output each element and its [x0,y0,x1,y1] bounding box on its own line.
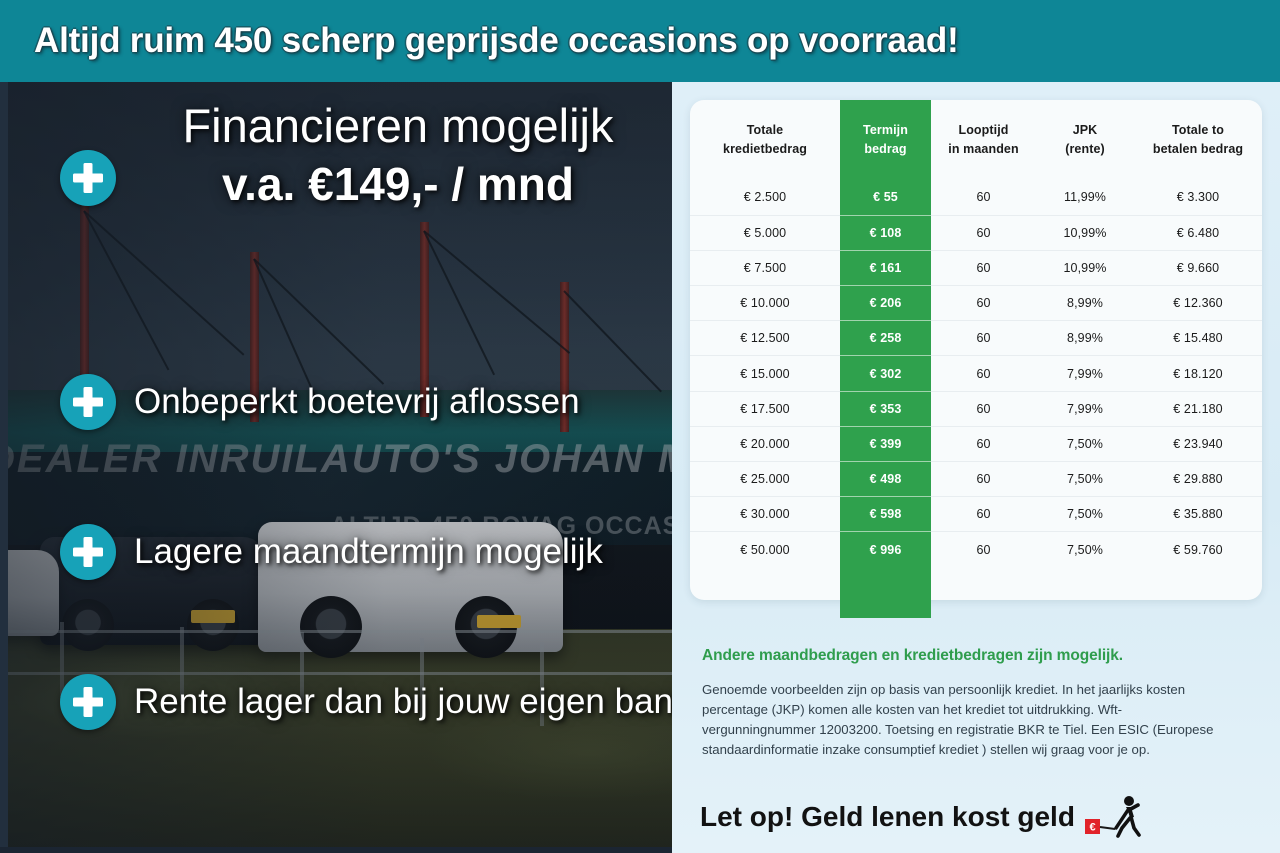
cell-termijn: € 161 [840,250,931,285]
cell-jkp: 10,99% [1036,215,1134,250]
finance-info-panel: Totale kredietbedrag Termijn bedrag Loop… [672,82,1280,853]
cell-termijn: € 996 [840,532,931,567]
table-row: € 50.000 € 996 60 7,50% € 59.760 [690,532,1262,567]
cell-termijn: € 258 [840,321,931,356]
plus-icon [60,674,116,730]
table-row: € 30.000 € 598 60 7,50% € 35.880 [690,497,1262,532]
cell-looptijd: 60 [931,215,1036,250]
cell-totaal: € 12.360 [1134,286,1262,321]
cell-krediet: € 50.000 [690,532,840,567]
cell-termijn: € 498 [840,462,931,497]
cell-termijn: € 399 [840,426,931,461]
cell-krediet: € 2.500 [690,180,840,215]
promo-column: Financieren mogelijk v.a. €149,- / mnd O… [0,82,675,853]
cell-looptijd: 60 [931,180,1036,215]
cell-krediet: € 10.000 [690,286,840,321]
disclaimer-block: Andere maandbedragen en kredietbedragen … [702,647,1222,760]
table-row: € 10.000 € 206 60 8,99% € 12.360 [690,286,1262,321]
column-header-looptijd: Looptijd in maanden [931,100,1036,180]
table-row: € 17.500 € 353 60 7,99% € 21.180 [690,391,1262,426]
promo-bullet-3: Rente lager dan bij jouw eigen bank [60,674,691,730]
cell-termijn: € 108 [840,215,931,250]
svg-text:€: € [1089,822,1095,834]
table-row: € 20.000 € 399 60 7,50% € 23.940 [690,426,1262,461]
table-row: € 25.000 € 498 60 7,50% € 29.880 [690,462,1262,497]
promo-headline-line1: Financieren mogelijk [126,100,670,153]
cell-totaal: € 18.120 [1134,356,1262,391]
finance-table-body: € 2.500 € 55 60 11,99% € 3.300 € 5.000 €… [690,180,1262,567]
finance-table-head: Totale kredietbedrag Termijn bedrag Loop… [690,100,1262,180]
cell-totaal: € 3.300 [1134,180,1262,215]
afm-money-warning-icon: € [1085,795,1141,839]
frame-edge-left [0,82,8,853]
table-row: € 2.500 € 55 60 11,99% € 3.300 [690,180,1262,215]
cell-krediet: € 20.000 [690,426,840,461]
cell-jkp: 8,99% [1036,286,1134,321]
credit-warning-text: Let op! Geld lenen kost geld [700,801,1075,833]
advertisement-banner: Altijd ruim 450 scherp geprijsde occasio… [0,0,1280,853]
table-row: € 7.500 € 161 60 10,99% € 9.660 [690,250,1262,285]
cell-termijn: € 55 [840,180,931,215]
cell-looptijd: 60 [931,250,1036,285]
cell-krediet: € 30.000 [690,497,840,532]
top-banner: Altijd ruim 450 scherp geprijsde occasio… [0,0,1280,82]
cell-jkp: 7,99% [1036,356,1134,391]
cell-looptijd: 60 [931,391,1036,426]
promo-bullet-2: Lagere maandtermijn mogelijk [60,524,603,580]
headline-block: Financieren mogelijk v.a. €149,- / mnd [60,100,670,212]
disclaimer-heading: Andere maandbedragen en kredietbedragen … [702,647,1222,665]
table-row: € 15.000 € 302 60 7,99% € 18.120 [690,356,1262,391]
cell-looptijd: 60 [931,286,1036,321]
cell-jkp: 7,99% [1036,391,1134,426]
cell-jkp: 8,99% [1036,321,1134,356]
table-header-row: Totale kredietbedrag Termijn bedrag Loop… [690,100,1262,180]
promo-headline-line2: v.a. €149,- / mnd [126,157,670,212]
cell-krediet: € 7.500 [690,250,840,285]
column-header-krediet: Totale kredietbedrag [690,100,840,180]
cell-looptijd: 60 [931,462,1036,497]
cell-krediet: € 15.000 [690,356,840,391]
plus-icon [60,524,116,580]
cell-jkp: 7,50% [1036,426,1134,461]
cell-looptijd: 60 [931,356,1036,391]
promo-bullet-label: Onbeperkt boetevrij aflossen [134,382,580,422]
column-header-totaal: Totale to betalen bedrag [1134,100,1262,180]
cell-looptijd: 60 [931,321,1036,356]
cell-krediet: € 12.500 [690,321,840,356]
cell-jkp: 7,50% [1036,532,1134,567]
column-header-jkp: JPK (rente) [1036,100,1134,180]
cell-krediet: € 17.500 [690,391,840,426]
cell-looptijd: 60 [931,497,1036,532]
cell-termijn: € 206 [840,286,931,321]
cell-looptijd: 60 [931,426,1036,461]
promo-bullet-label: Lagere maandtermijn mogelijk [134,532,603,572]
cell-krediet: € 5.000 [690,215,840,250]
plus-icon [60,374,116,430]
cell-jkp: 7,50% [1036,497,1134,532]
table-row: € 12.500 € 258 60 8,99% € 15.480 [690,321,1262,356]
finance-table: Totale kredietbedrag Termijn bedrag Loop… [690,100,1262,567]
plus-icon [60,150,116,206]
cell-totaal: € 35.880 [1134,497,1262,532]
cell-jkp: 11,99% [1036,180,1134,215]
cell-totaal: € 6.480 [1134,215,1262,250]
cell-looptijd: 60 [931,532,1036,567]
disclaimer-body: Genoemde voorbeelden zijn op basis van p… [702,680,1222,760]
cell-termijn: € 353 [840,391,931,426]
cell-krediet: € 25.000 [690,462,840,497]
cell-termijn: € 302 [840,356,931,391]
cell-jkp: 10,99% [1036,250,1134,285]
cell-totaal: € 29.880 [1134,462,1262,497]
cell-totaal: € 21.180 [1134,391,1262,426]
cell-jkp: 7,50% [1036,462,1134,497]
finance-table-card: Totale kredietbedrag Termijn bedrag Loop… [690,100,1262,600]
column-header-termijn: Termijn bedrag [840,100,931,180]
banner-headline: Altijd ruim 450 scherp geprijsde occasio… [0,21,959,61]
table-row: € 5.000 € 108 60 10,99% € 6.480 [690,215,1262,250]
promo-bullet-label: Rente lager dan bij jouw eigen bank [134,682,691,722]
cell-termijn: € 598 [840,497,931,532]
cell-totaal: € 23.940 [1134,426,1262,461]
credit-warning-row: Let op! Geld lenen kost geld € [700,795,1141,839]
cell-totaal: € 59.760 [1134,532,1262,567]
frame-edge-bottom [0,847,672,853]
cell-totaal: € 9.660 [1134,250,1262,285]
promo-bullet-1: Onbeperkt boetevrij aflossen [60,374,580,430]
cell-totaal: € 15.480 [1134,321,1262,356]
